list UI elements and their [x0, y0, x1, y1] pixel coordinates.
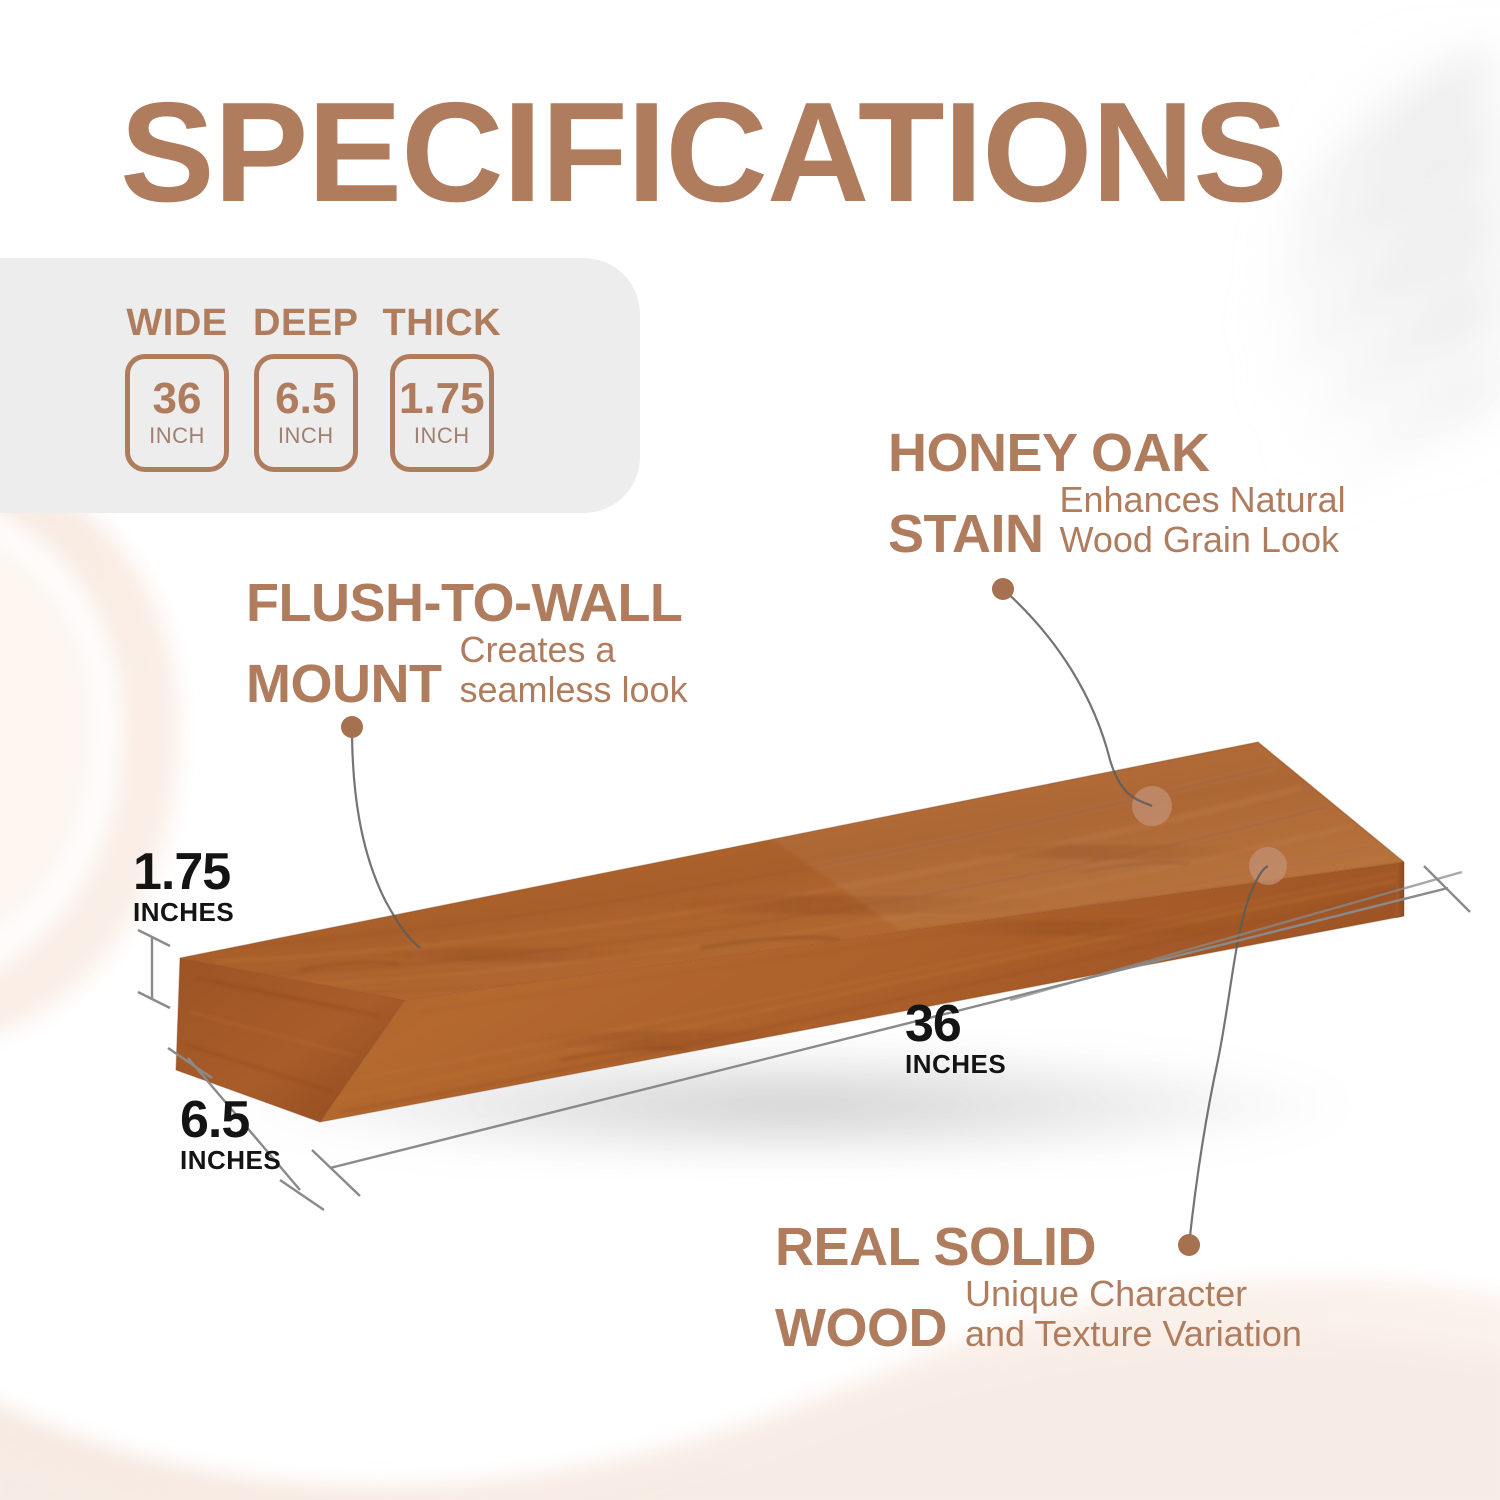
- anchor-dot-wood: [1249, 847, 1287, 885]
- callout-wood-sub-line1: Unique Character: [965, 1273, 1247, 1314]
- spec-label-deep: DEEP: [253, 302, 358, 345]
- callout-honey-oak-stain: HONEY OAK STAIN Enhances Natural Wood Gr…: [888, 428, 1346, 560]
- leader-line-wood: [1189, 866, 1268, 1245]
- spec-value-thick: 1.75: [399, 377, 485, 420]
- spec-badge-row: WIDE 36 INCH DEEP 6.5 INCH THICK 1.75 IN…: [125, 302, 501, 472]
- callout-wood-title-line2: WOOD: [775, 1303, 947, 1355]
- spec-label-thick: THICK: [382, 302, 501, 345]
- dimension-unit-width: INCHES: [905, 1049, 1006, 1080]
- callout-wood-sub-line2: and Texture Variation: [965, 1313, 1302, 1354]
- callout-flush-sub-line2: seamless look: [459, 669, 687, 710]
- callout-honey-title-line1: HONEY OAK: [888, 423, 1210, 483]
- dimension-value-width: 36: [905, 1000, 1006, 1049]
- spec-badge-thick: 1.75 INCH: [390, 354, 494, 472]
- leader-dot-honey: [992, 578, 1014, 600]
- callout-wood-title-line1: REAL SOLID: [775, 1217, 1096, 1277]
- spec-label-wide: WIDE: [126, 302, 227, 345]
- callout-honey-sub-line2: Wood Grain Look: [1060, 519, 1340, 560]
- leader-line-honey: [1003, 589, 1152, 806]
- dim-guide-width-upper: [1010, 872, 1462, 1000]
- leader-dot-flush: [341, 716, 363, 738]
- spec-unit-wide: INCH: [149, 423, 205, 449]
- callout-flush-subtitle: Creates a seamless look: [459, 630, 687, 711]
- spec-value-deep: 6.5: [275, 377, 336, 420]
- spec-badge-deep: 6.5 INCH: [254, 354, 358, 472]
- dimension-value-depth: 6.5: [180, 1096, 281, 1145]
- callout-honey-sub-line1: Enhances Natural: [1060, 479, 1346, 520]
- spec-unit-deep: INCH: [278, 423, 334, 449]
- dimension-unit-depth: INCHES: [180, 1145, 281, 1176]
- spec-badge-wide: 36 INCH: [125, 354, 229, 472]
- spec-unit-thick: INCH: [414, 423, 470, 449]
- spec-value-wide: 36: [153, 377, 202, 420]
- dimension-label-depth: 6.5 INCHES: [180, 1096, 281, 1176]
- callout-real-solid-wood: REAL SOLID WOOD Unique Character and Tex…: [775, 1222, 1302, 1354]
- spec-item-wide: WIDE 36 INCH: [125, 302, 229, 472]
- spec-item-deep: DEEP 6.5 INCH: [253, 302, 358, 472]
- left-blob-group: [0, 430, 179, 1055]
- callout-flush-to-wall-mount: FLUSH-TO-WALL MOUNT Creates a seamless l…: [246, 578, 688, 710]
- dimension-label-width: 36 INCHES: [905, 1000, 1006, 1080]
- leader-line-flush: [352, 727, 420, 948]
- callout-flush-title-line2: MOUNT: [246, 659, 441, 711]
- spec-item-thick: THICK 1.75 INCH: [382, 302, 501, 472]
- dimension-label-thickness: 1.75 INCHES: [133, 848, 234, 928]
- callout-flush-title-line1: FLUSH-TO-WALL: [246, 573, 682, 633]
- dimension-unit-thickness: INCHES: [133, 897, 234, 928]
- page-title: SPECIFICATIONS: [120, 82, 1287, 224]
- spec-summary-card: WIDE 36 INCH DEEP 6.5 INCH THICK 1.75 IN…: [0, 258, 640, 513]
- callout-wood-subtitle: Unique Character and Texture Variation: [965, 1274, 1302, 1355]
- dim-line-width: [330, 888, 1448, 1168]
- anchor-dot-honey: [1132, 786, 1172, 826]
- dimension-value-thickness: 1.75: [133, 848, 234, 897]
- callout-honey-title-line2: STAIN: [888, 509, 1044, 561]
- callout-flush-sub-line1: Creates a: [459, 629, 615, 670]
- callout-honey-subtitle: Enhances Natural Wood Grain Look: [1060, 480, 1346, 561]
